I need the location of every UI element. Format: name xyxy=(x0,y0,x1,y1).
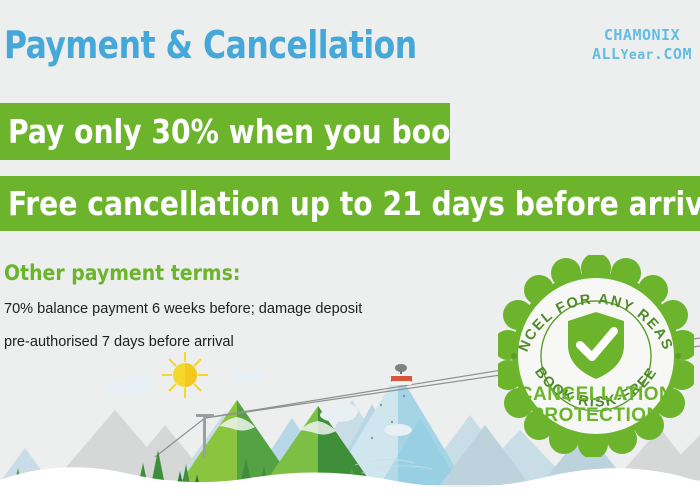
terms-line-1: 70% balance payment 6 weeks before; dama… xyxy=(4,300,362,317)
chamonix-all-year-logo[interactable]: CHAMONIX ALLYear.COM xyxy=(592,26,692,65)
logo-all: ALL xyxy=(592,45,621,63)
banner-free-cancellation: Free cancellation up to 21 days before a… xyxy=(0,176,700,231)
logo-line-1: CHAMONIX xyxy=(592,26,692,45)
banner-pay-only-30: Pay only 30% when you book xyxy=(0,103,450,160)
page-title: Payment & Cancellation xyxy=(4,24,417,66)
badge-dot-right xyxy=(675,353,681,359)
cancellation-protection-badge: CANCEL FOR ANY REASON BOOK RISK-FREE CAN… xyxy=(498,255,694,457)
badge-title-line-1: CANCELLATION xyxy=(519,384,673,405)
terms-line-2: pre-authorised 7 days before arrival xyxy=(4,333,234,350)
other-payment-terms-heading: Other payment terms: xyxy=(4,261,240,285)
logo-com: .COM xyxy=(654,45,692,63)
poster-canvas: Payment & Cancellation CHAMONIX ALLYear.… xyxy=(0,0,700,500)
badge-dot-left xyxy=(511,353,517,359)
banner-2-label: Free cancellation up to 21 days before a… xyxy=(8,184,700,223)
banner-1-label: Pay only 30% when you book xyxy=(8,112,450,151)
badge-title-line-2: PROTECTION xyxy=(531,405,661,426)
logo-year: Year xyxy=(621,48,654,63)
logo-line-2: ALLYear.COM xyxy=(592,45,692,65)
